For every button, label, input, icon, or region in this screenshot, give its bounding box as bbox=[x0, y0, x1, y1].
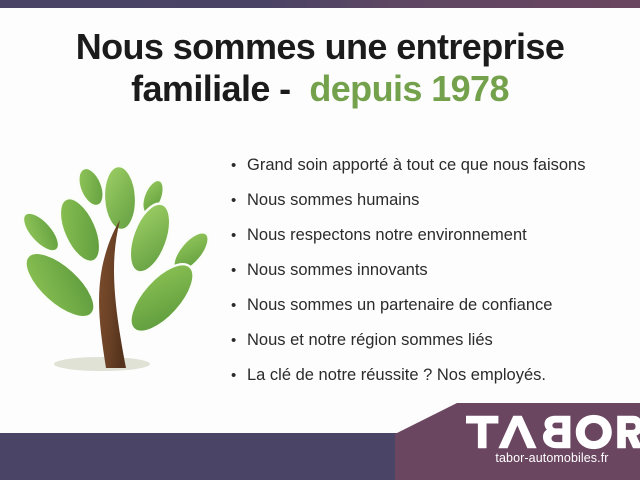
headline-accent: depuis 1978 bbox=[309, 68, 509, 109]
headline-line-2-plain: familiale - bbox=[131, 68, 290, 109]
list-item: Nous sommes innovants bbox=[231, 253, 631, 288]
headline-line-2: familiale - depuis 1978 bbox=[0, 68, 640, 110]
brand-tagline: tabor-automobiles.fr bbox=[466, 451, 638, 465]
list-item: Nous sommes humains bbox=[231, 183, 631, 218]
tree-shadow bbox=[54, 357, 150, 371]
brand-logo[interactable]: tabor-automobiles.fr bbox=[466, 414, 638, 465]
list-item: La clé de notre réussite ? Nos employés. bbox=[231, 358, 631, 393]
list-item: Grand soin apporté à tout ce que nous fa… bbox=[231, 148, 631, 183]
list-item: Nous et notre région sommes liés bbox=[231, 323, 631, 358]
list-item: Nous respectons notre environnement bbox=[231, 218, 631, 253]
footer-left-bar bbox=[0, 433, 400, 480]
value-proposition-list: Grand soin apporté à tout ce que nous fa… bbox=[231, 148, 631, 393]
slide-canvas: Nous sommes une entreprise familiale - d… bbox=[0, 0, 640, 480]
tree-trunk bbox=[99, 220, 126, 368]
brand-wordmark bbox=[466, 414, 638, 450]
page-title: Nous sommes une entreprise familiale - d… bbox=[0, 26, 640, 111]
headline-line-1: Nous sommes une entreprise bbox=[0, 26, 640, 68]
tabor-wordmark-glyphs bbox=[466, 414, 640, 450]
top-accent-strip bbox=[0, 0, 640, 8]
list-item: Nous sommes un partenaire de confiance bbox=[231, 288, 631, 323]
tree-illustration bbox=[10, 140, 220, 390]
